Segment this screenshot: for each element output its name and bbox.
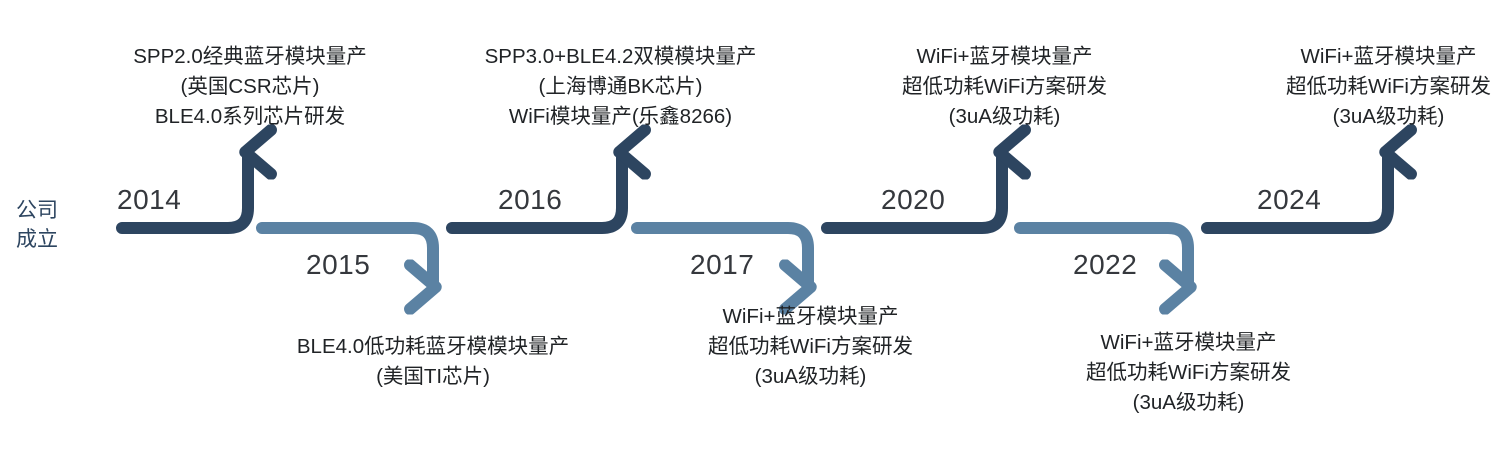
milestone-text-2017: WiFi+蓝牙模块量产 超低功耗WiFi方案研发 (3uA级功耗) [688, 302, 933, 392]
milestone-text-2014: SPP2.0经典蓝牙模块量产 (英国CSR芯片) BLE4.0系列芯片研发 [100, 42, 400, 132]
milestone-line: (英国CSR芯片) [100, 72, 400, 102]
origin-label-line2: 成立 [4, 225, 70, 254]
year-label-2015: 2015 [306, 249, 370, 281]
milestone-text-2015: BLE4.0低功耗蓝牙模模块量产 (美国TI芯片) [283, 332, 583, 392]
year-label-2024: 2024 [1257, 184, 1321, 216]
origin-label: 公司 成立 [4, 196, 70, 254]
milestone-line: WiFi+蓝牙模块量产 [1266, 42, 1502, 72]
milestone-text-2016: SPP3.0+BLE4.2双模模块量产 (上海博通BK芯片) WiFi模块量产(… [478, 42, 763, 132]
milestone-line: (美国TI芯片) [283, 362, 583, 392]
milestone-line: (上海博通BK芯片) [478, 72, 763, 102]
milestone-line: 超低功耗WiFi方案研发 [688, 332, 933, 362]
milestone-line: (3uA级功耗) [882, 102, 1127, 132]
milestone-line: BLE4.0低功耗蓝牙模模块量产 [283, 332, 583, 362]
year-label-2022: 2022 [1073, 249, 1137, 281]
milestone-line: 超低功耗WiFi方案研发 [882, 72, 1127, 102]
year-label-2016: 2016 [498, 184, 562, 216]
origin-label-line1: 公司 [4, 196, 70, 225]
milestone-line: (3uA级功耗) [1066, 388, 1311, 418]
milestone-text-2020: WiFi+蓝牙模块量产 超低功耗WiFi方案研发 (3uA级功耗) [882, 42, 1127, 132]
milestone-text-2024: WiFi+蓝牙模块量产 超低功耗WiFi方案研发 (3uA级功耗) [1266, 42, 1502, 132]
milestone-line: SPP3.0+BLE4.2双模模块量产 [478, 42, 763, 72]
milestone-line: 超低功耗WiFi方案研发 [1266, 72, 1502, 102]
year-label-2020: 2020 [881, 184, 945, 216]
timeline-diagram: 公司 成立 2014 2015 2016 2017 2020 2022 2024… [0, 0, 1502, 469]
milestone-line: SPP2.0经典蓝牙模块量产 [100, 42, 400, 72]
milestone-line: (3uA级功耗) [688, 362, 933, 392]
milestone-text-2022: WiFi+蓝牙模块量产 超低功耗WiFi方案研发 (3uA级功耗) [1066, 328, 1311, 418]
milestone-line: 超低功耗WiFi方案研发 [1066, 358, 1311, 388]
milestone-line: WiFi模块量产(乐鑫8266) [478, 102, 763, 132]
year-label-2014: 2014 [117, 184, 181, 216]
milestone-line: WiFi+蓝牙模块量产 [1066, 328, 1311, 358]
milestone-line: WiFi+蓝牙模块量产 [882, 42, 1127, 72]
milestone-line: BLE4.0系列芯片研发 [100, 102, 400, 132]
year-label-2017: 2017 [690, 249, 754, 281]
milestone-line: (3uA级功耗) [1266, 102, 1502, 132]
milestone-line: WiFi+蓝牙模块量产 [688, 302, 933, 332]
